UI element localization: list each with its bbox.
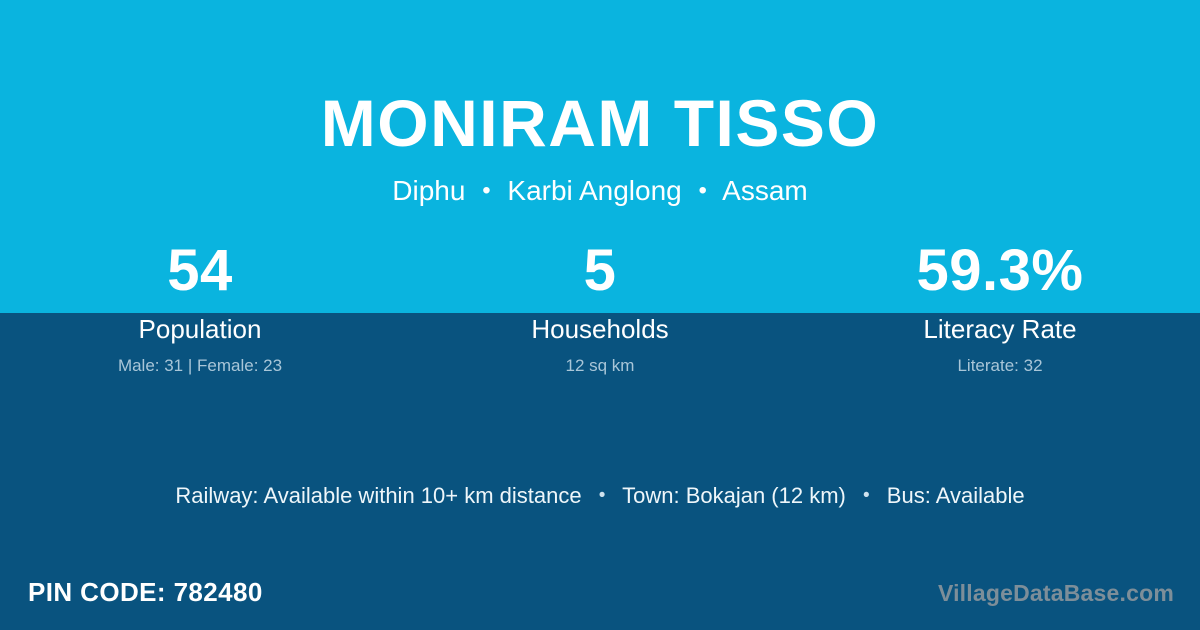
- breadcrumb: Diphu • Karbi Anglong • Assam: [0, 160, 1200, 208]
- stat-label: Literacy Rate: [800, 314, 1200, 344]
- stat-population: 54 Population Male: 31 | Female: 23: [0, 240, 400, 376]
- infrastructure-railway: Railway: Available within 10+ km distanc…: [175, 483, 581, 508]
- breadcrumb-separator-icon: •: [473, 177, 499, 204]
- village-info-card: MONIRAM TISSO Diphu • Karbi Anglong • As…: [0, 0, 1200, 630]
- stat-households: 5 Households 12 sq km: [400, 240, 800, 376]
- stat-sublabel: 12 sq km: [400, 356, 800, 376]
- statistics-row: 54 Population Male: 31 | Female: 23 5 Ho…: [0, 240, 1200, 376]
- stat-value: 5: [400, 240, 800, 302]
- stat-label: Households: [400, 314, 800, 344]
- stat-value: 59.3%: [800, 240, 1200, 302]
- stat-value: 54: [0, 240, 400, 302]
- breadcrumb-block: Diphu: [392, 175, 465, 206]
- infrastructure-separator-icon: •: [852, 485, 881, 506]
- stat-label: Population: [0, 314, 400, 344]
- site-branding: VillageDataBase.com: [938, 578, 1174, 608]
- breadcrumb-separator-icon: •: [690, 177, 716, 204]
- infrastructure-summary: Railway: Available within 10+ km distanc…: [0, 482, 1200, 510]
- breadcrumb-district: Karbi Anglong: [507, 175, 681, 206]
- page-title: MONIRAM TISSO: [0, 0, 1200, 160]
- infrastructure-bus: Bus: Available: [887, 483, 1025, 508]
- breadcrumb-state: Assam: [722, 175, 808, 206]
- stat-sublabel: Literate: 32: [800, 356, 1200, 376]
- infrastructure-separator-icon: •: [588, 485, 617, 506]
- stat-sublabel: Male: 31 | Female: 23: [0, 356, 400, 376]
- card-header: MONIRAM TISSO Diphu • Karbi Anglong • As…: [0, 0, 1200, 208]
- infrastructure-town: Town: Bokajan (12 km): [622, 483, 846, 508]
- pin-code: PIN CODE: 782480: [28, 576, 263, 608]
- card-footer: PIN CODE: 782480 VillageDataBase.com: [0, 570, 1200, 630]
- stat-literacy-rate: 59.3% Literacy Rate Literate: 32: [800, 240, 1200, 376]
